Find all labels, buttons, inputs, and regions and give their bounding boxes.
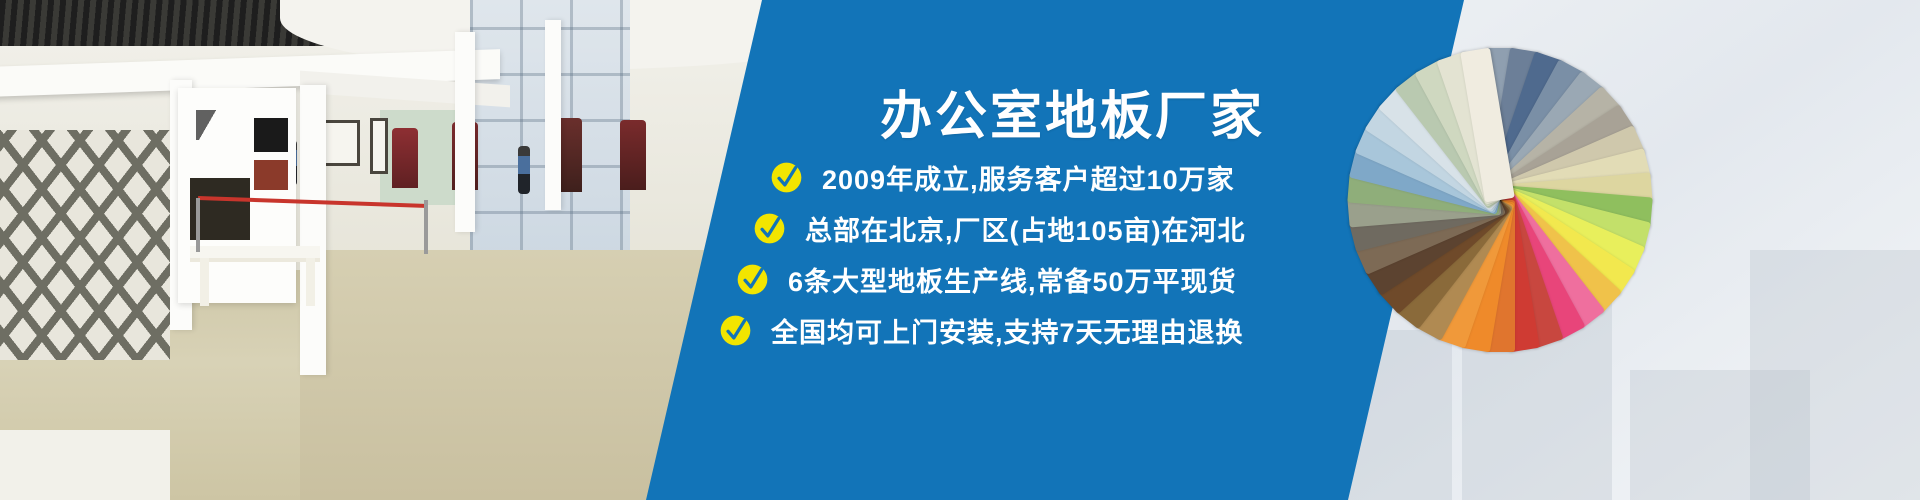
display-table — [190, 246, 320, 258]
display-table-leg — [306, 258, 315, 306]
hall-column — [545, 20, 561, 210]
feature-list: 2009年成立,服务客户超过10万家 总部在北京,厂区(占地105亩)在河北 — [640, 152, 1470, 356]
bamboo-lattice-screen — [0, 130, 170, 360]
check-circle-icon — [736, 263, 769, 296]
list-item-label: 总部在北京,厂区(占地105亩)在河北 — [805, 209, 1246, 248]
list-item-label: 2009年成立,服务客户超过10万家 — [822, 158, 1235, 197]
banner-photo-swatch — [254, 160, 288, 190]
hall-column — [455, 32, 475, 232]
list-item: 总部在北京,厂区(占地105亩)在河北 — [640, 203, 1470, 254]
barrier-post — [196, 198, 200, 252]
banner-calligraphy — [196, 110, 246, 140]
list-item-label: 6条大型地板生产线,常备50万平现货 — [788, 260, 1237, 299]
wall-scroll-frame — [370, 118, 388, 174]
visitor-figure — [518, 146, 530, 194]
planter-column — [392, 128, 418, 188]
pavilion-column — [300, 85, 326, 375]
lattice-base-planter — [0, 430, 170, 500]
list-item: 6条大型地板生产线,常备50万平现货 — [640, 254, 1470, 305]
check-circle-icon — [753, 212, 786, 245]
list-item: 全国均可上门安装,支持7天无理由退换 — [640, 305, 1470, 356]
background-block — [1750, 250, 1920, 500]
check-circle-icon — [719, 314, 752, 347]
panel-content: 办公室地板厂家 2009年成立,服务客户超过10万家 — [640, 0, 1470, 500]
display-table-leg — [200, 258, 209, 306]
barrier-post — [424, 200, 428, 254]
list-item-label: 全国均可上门安装,支持7天无理由退换 — [771, 311, 1244, 350]
check-circle-icon — [770, 161, 803, 194]
page-title: 办公室地板厂家 — [880, 74, 1265, 149]
banner-photo-swatch — [254, 118, 288, 152]
display-banner-board — [178, 88, 296, 303]
promo-banner: 办公室地板厂家 2009年成立,服务客户超过10万家 — [0, 0, 1920, 500]
list-item: 2009年成立,服务客户超过10万家 — [640, 152, 1470, 203]
